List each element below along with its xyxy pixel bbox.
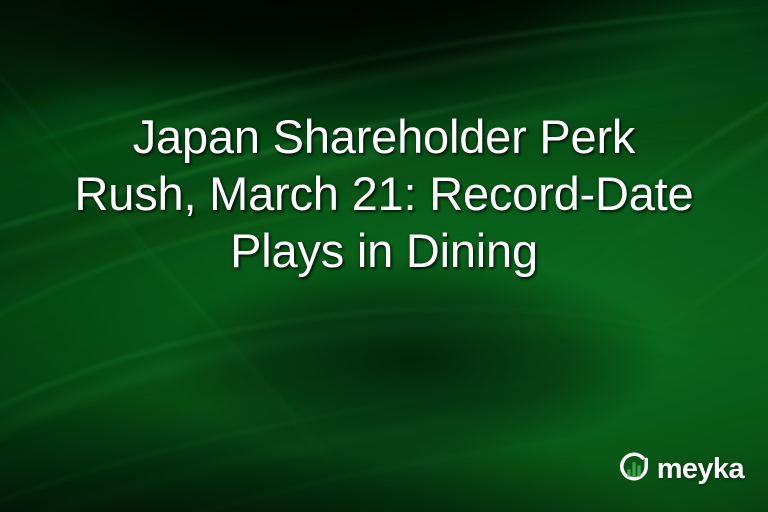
meyka-wordmark: meyka (657, 455, 744, 484)
banner-headline: Japan Shareholder Perk Rush, March 21: R… (0, 108, 768, 279)
headline-line-2: Rush, March 21: Record-Date (18, 165, 750, 222)
promo-banner: Japan Shareholder Perk Rush, March 21: R… (0, 0, 768, 512)
bar-chart-in-ring-icon (615, 450, 653, 488)
headline-line-1: Japan Shareholder Perk (18, 108, 750, 165)
headline-line-3: Plays in Dining (18, 222, 750, 279)
meyka-logo[interactable]: meyka (615, 450, 744, 488)
